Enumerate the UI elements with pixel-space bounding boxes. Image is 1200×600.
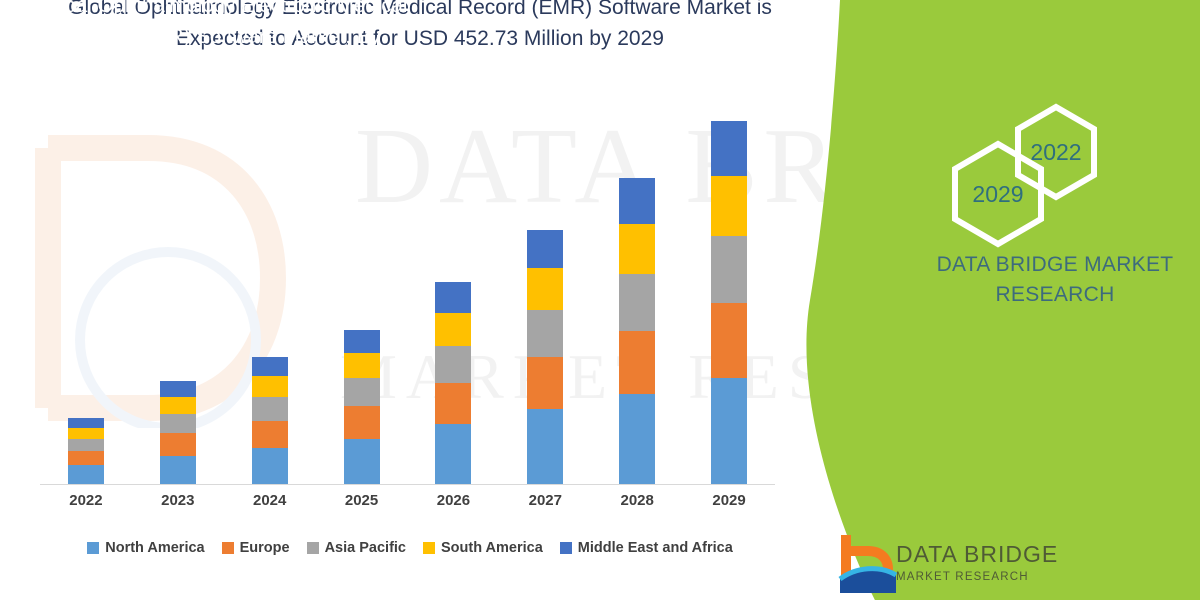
bar-segment[interactable] <box>68 465 104 485</box>
bar-column-2029[interactable] <box>711 110 747 485</box>
legend-swatch-icon <box>307 542 319 554</box>
legend-label: North America <box>105 540 204 556</box>
bar-segment[interactable] <box>619 331 655 394</box>
panel-title: Global Ophthalmology Electronic Medical … <box>30 0 410 83</box>
legend-item-middle-east-and-africa[interactable]: Middle East and Africa <box>560 540 733 556</box>
bar-segment[interactable] <box>619 274 655 330</box>
bar-segment[interactable] <box>160 381 196 396</box>
hexagon-badge-2029-label: 2029 <box>972 181 1023 208</box>
bar-segment[interactable] <box>252 357 288 376</box>
bar-segment[interactable] <box>68 451 104 465</box>
bar-column-2026[interactable] <box>435 110 471 485</box>
bar-column-2024[interactable] <box>252 110 288 485</box>
bar-segment[interactable] <box>435 383 471 424</box>
bar-segment[interactable] <box>527 310 563 357</box>
bar-segment[interactable] <box>252 376 288 397</box>
brand-name: DATA BRIDGE MARKET RESEARCH <box>910 250 1200 310</box>
bar-segment[interactable] <box>344 330 380 353</box>
bar-segment[interactable] <box>68 428 104 439</box>
bar-segment[interactable] <box>711 303 747 378</box>
legend-item-asia-pacific[interactable]: Asia Pacific <box>307 540 406 556</box>
bar-segment[interactable] <box>344 378 380 407</box>
legend-label: Asia Pacific <box>325 540 406 556</box>
legend-swatch-icon <box>423 542 435 554</box>
footer-logo-subtext: MARKET RESEARCH <box>896 571 1029 583</box>
brand-line-2: RESEARCH <box>910 280 1200 310</box>
bar-segment[interactable] <box>160 433 196 455</box>
bar-column-2025[interactable] <box>344 110 380 485</box>
bar-segment[interactable] <box>160 414 196 434</box>
legend-item-north-america[interactable]: North America <box>87 540 204 556</box>
chart-legend: North AmericaEuropeAsia PacificSouth Ame… <box>40 540 780 556</box>
x-axis-label-2026: 2026 <box>423 492 483 509</box>
chart-plot-area <box>40 110 775 485</box>
bar-column-2023[interactable] <box>160 110 196 485</box>
bar-segment[interactable] <box>344 353 380 378</box>
bar-segment[interactable] <box>619 178 655 224</box>
footer-logo-text: DATA BRIDGE <box>896 541 1058 568</box>
bar-segment[interactable] <box>435 313 471 346</box>
bar-segment[interactable] <box>435 346 471 384</box>
x-axis-label-2027: 2027 <box>515 492 575 509</box>
bar-group <box>40 110 775 485</box>
x-axis-label-2023: 2023 <box>148 492 208 509</box>
legend-item-south-america[interactable]: South America <box>423 540 543 556</box>
x-axis-labels: 20222023202420252026202720282029 <box>40 492 775 509</box>
bar-segment[interactable] <box>711 236 747 303</box>
footer-logo: DATA BRIDGE MARKET RESEARCH <box>838 535 1168 600</box>
legend-swatch-icon <box>222 542 234 554</box>
infographic-root: DATA BRIDGE MARKET RESEARCH Global Ophth… <box>0 0 1200 600</box>
bar-segment[interactable] <box>527 230 563 268</box>
x-axis-label-2025: 2025 <box>332 492 392 509</box>
bar-segment[interactable] <box>68 418 104 428</box>
bar-segment[interactable] <box>252 397 288 421</box>
bar-segment[interactable] <box>527 409 563 485</box>
x-axis-label-2028: 2028 <box>607 492 667 509</box>
bar-column-2022[interactable] <box>68 110 104 485</box>
x-axis-label-2029: 2029 <box>699 492 759 509</box>
bar-segment[interactable] <box>527 268 563 310</box>
hexagon-badge-2029: 2029 <box>948 140 1048 248</box>
bar-segment[interactable] <box>160 397 196 414</box>
legend-swatch-icon <box>87 542 99 554</box>
bar-segment[interactable] <box>435 424 471 485</box>
bar-segment[interactable] <box>435 282 471 312</box>
bar-segment[interactable] <box>252 421 288 448</box>
legend-item-europe[interactable]: Europe <box>222 540 290 556</box>
bar-segment[interactable] <box>527 357 563 409</box>
bar-segment[interactable] <box>619 224 655 274</box>
legend-swatch-icon <box>560 542 572 554</box>
x-axis-label-2024: 2024 <box>240 492 300 509</box>
legend-label: Europe <box>240 540 290 556</box>
bar-column-2028[interactable] <box>619 110 655 485</box>
bar-segment[interactable] <box>252 448 288 486</box>
bar-segment[interactable] <box>344 439 380 485</box>
bar-segment[interactable] <box>68 439 104 452</box>
bar-segment[interactable] <box>160 456 196 485</box>
bar-segment[interactable] <box>711 121 747 176</box>
x-axis-line <box>40 484 775 485</box>
x-axis-label-2022: 2022 <box>56 492 116 509</box>
bar-column-2027[interactable] <box>527 110 563 485</box>
legend-label: South America <box>441 540 543 556</box>
bar-segment[interactable] <box>711 176 747 236</box>
bar-segment[interactable] <box>619 394 655 485</box>
footer-logo-mark-icon <box>838 535 898 595</box>
legend-label: Middle East and Africa <box>578 540 733 556</box>
brand-line-1: DATA BRIDGE MARKET <box>910 250 1200 280</box>
bar-segment[interactable] <box>711 378 747 485</box>
bar-segment[interactable] <box>344 406 380 438</box>
